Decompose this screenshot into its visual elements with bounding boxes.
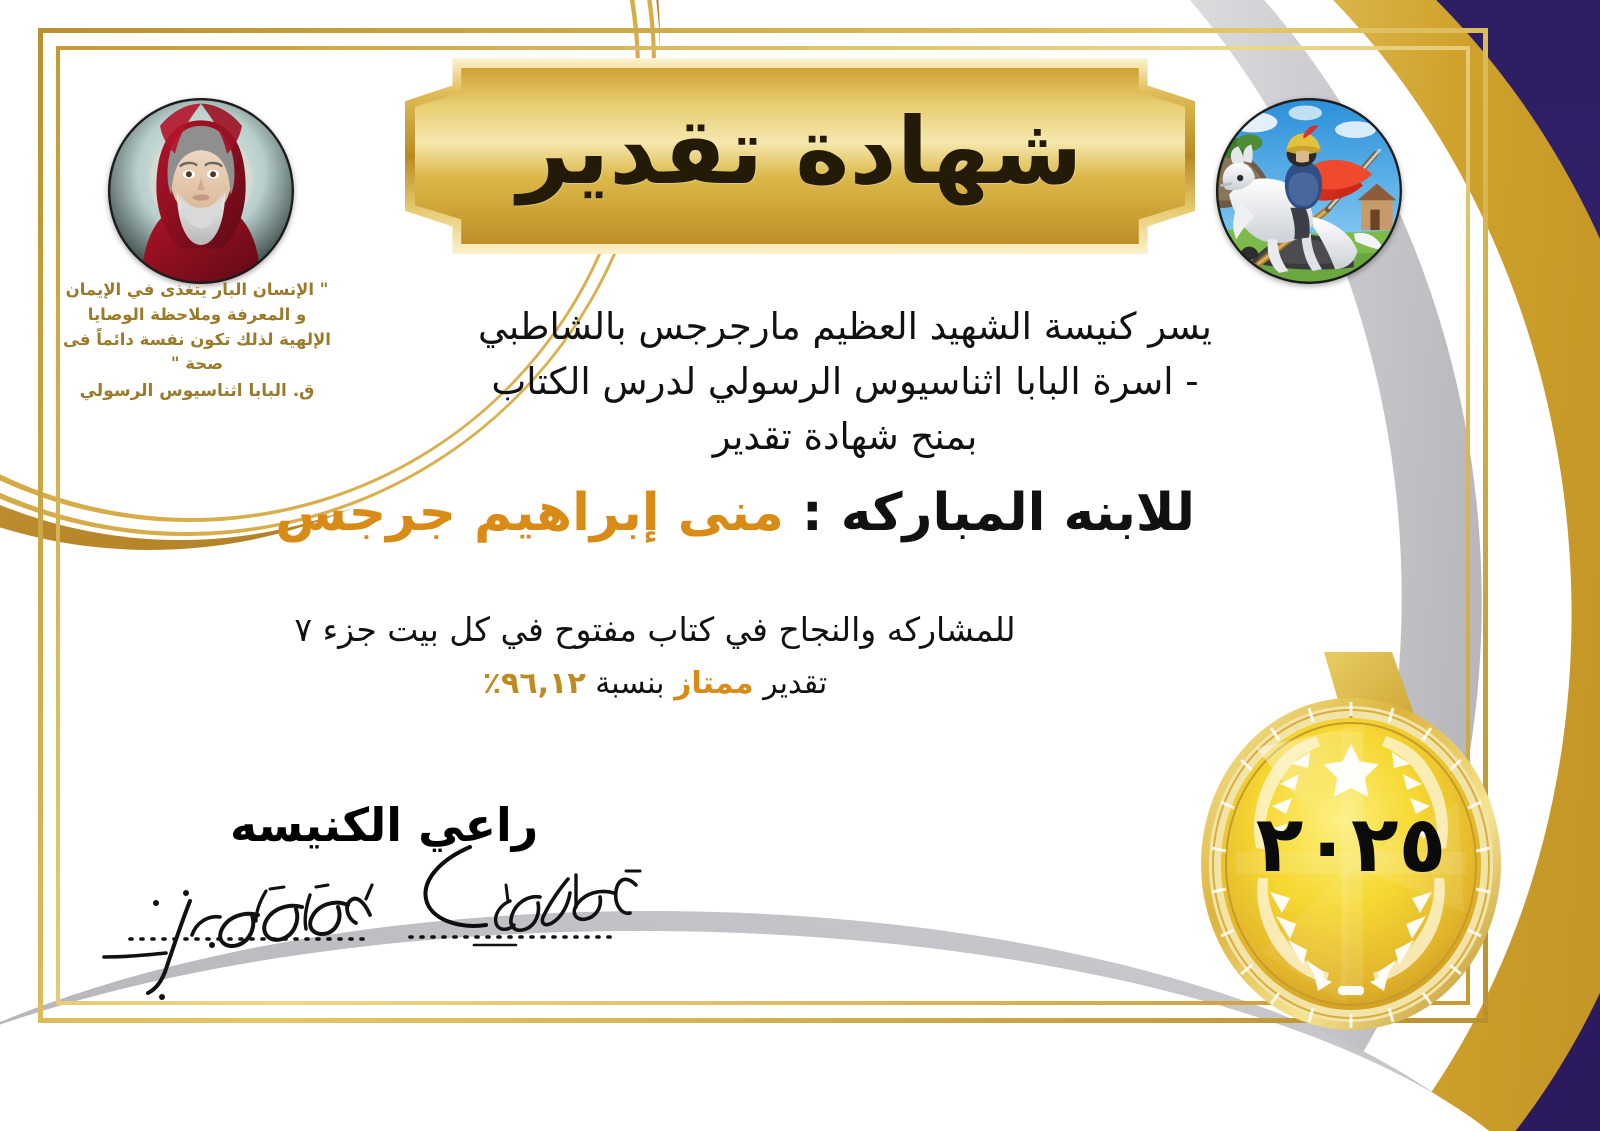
body-text: يسر كنيسة الشهيد العظيم مارجرجس بالشاطبي… [300, 300, 1390, 464]
grade-prefix: تقدير [763, 666, 827, 701]
recipient-name: منى إبراهيم جرجس [275, 483, 784, 543]
body-line-2: - اسرة البابا اثناسيوس الرسولي لدرس الكت… [300, 355, 1390, 410]
certificate-page: شهادة تقدير [0, 0, 1600, 1131]
grade-line: تقدير ممتاز بنسبة ٩٦,١٢٪ [110, 666, 1200, 701]
grade-middle: بنسبة [595, 666, 664, 701]
achievement-text: للمشاركه والنجاح في كتاب مفتوح في كل بيت… [110, 610, 1200, 649]
signature-right-stroke [496, 871, 640, 930]
grade-word: ممتاز [674, 666, 753, 701]
recipient-label: للابنه المباركه : [802, 483, 1195, 543]
signature-left-stroke [104, 885, 372, 1000]
quote-block: " الإنسان البار يتغذى في الإيمان و المعر… [62, 278, 332, 405]
signature-title: راعي الكنيسه [230, 798, 538, 852]
quote-author: ق. البابا اثناسيوس الرسولي [62, 379, 332, 405]
title-banner: شهادة تقدير [405, 58, 1195, 254]
medal-year: ٢٠٢٥ [1196, 652, 1506, 1032]
signature-area [70, 845, 670, 1005]
recipient-line: للابنه المباركه : منى إبراهيم جرجس [120, 483, 1350, 543]
quote-text: " الإنسان البار يتغذى في الإيمان و المعر… [62, 278, 332, 377]
body-line-1: يسر كنيسة الشهيد العظيم مارجرجس بالشاطبي [300, 300, 1390, 355]
saint-george-dragon-icon [1216, 98, 1402, 284]
certificate-title: شهادة تقدير [405, 58, 1195, 254]
pope-athanasius-portrait-icon [108, 98, 294, 284]
grade-percentage: ٩٦,١٢٪ [483, 666, 586, 701]
gold-medal-icon: ٢٠٢٥ [1196, 652, 1506, 1032]
body-line-3: بمنح شهادة تقدير [300, 410, 1390, 465]
